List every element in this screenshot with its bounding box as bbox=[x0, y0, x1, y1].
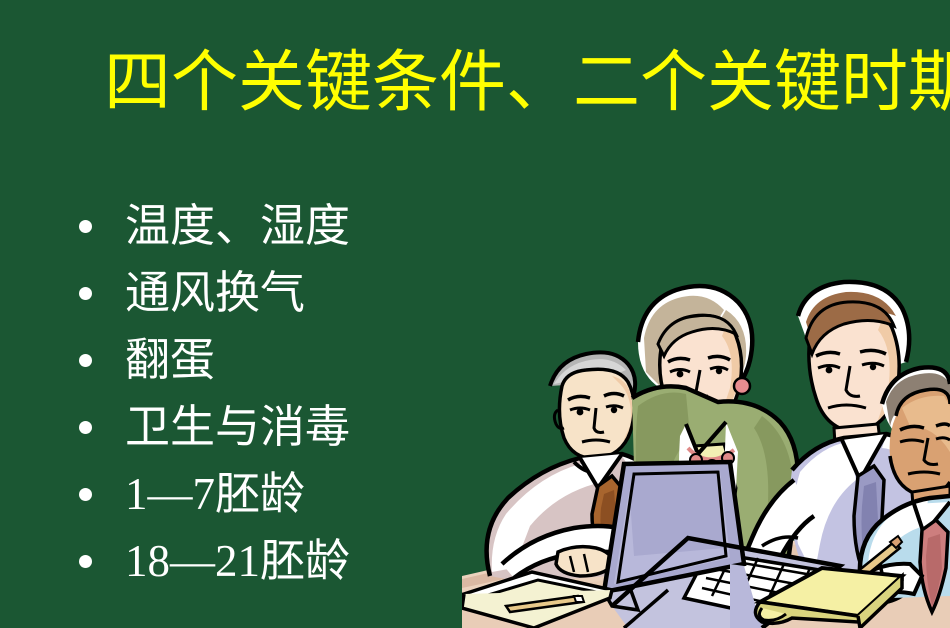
presentation-slide: 四个关键条件、二个关键时期 温度、湿度 通风换气 翻蛋 卫生与消毒 1—7胚龄 … bbox=[0, 0, 950, 628]
list-item: 温度、湿度 bbox=[70, 193, 490, 260]
bullet-dot-icon bbox=[79, 287, 92, 300]
bullet-dot-icon bbox=[79, 555, 92, 568]
list-item-label: 通风换气 bbox=[125, 268, 305, 318]
bullet-dot-icon bbox=[79, 354, 92, 367]
bullet-dot-icon bbox=[79, 421, 92, 434]
bullet-dot-icon bbox=[79, 220, 92, 233]
list-item: 通风换气 bbox=[70, 260, 490, 327]
page-title: 四个关键条件、二个关键时期 bbox=[104, 44, 950, 123]
clipart-svg bbox=[462, 276, 950, 628]
list-item: 卫生与消毒 bbox=[70, 394, 490, 461]
list-item-label: 1—7胚龄 bbox=[125, 469, 305, 519]
bullet-dot-icon bbox=[79, 488, 92, 501]
list-item-label: 18—21胚龄 bbox=[125, 536, 350, 586]
four-people-around-laptop-clipart bbox=[462, 276, 950, 628]
list-item: 1—7胚龄 bbox=[70, 461, 490, 528]
list-item-label: 卫生与消毒 bbox=[125, 402, 350, 452]
list-item-label: 翻蛋 bbox=[125, 335, 215, 385]
list-item: 18—21胚龄 bbox=[70, 528, 490, 595]
list-item: 翻蛋 bbox=[70, 327, 490, 394]
bullet-list: 温度、湿度 通风换气 翻蛋 卫生与消毒 1—7胚龄 18—21胚龄 bbox=[70, 193, 490, 595]
list-item-label: 温度、湿度 bbox=[125, 201, 350, 251]
